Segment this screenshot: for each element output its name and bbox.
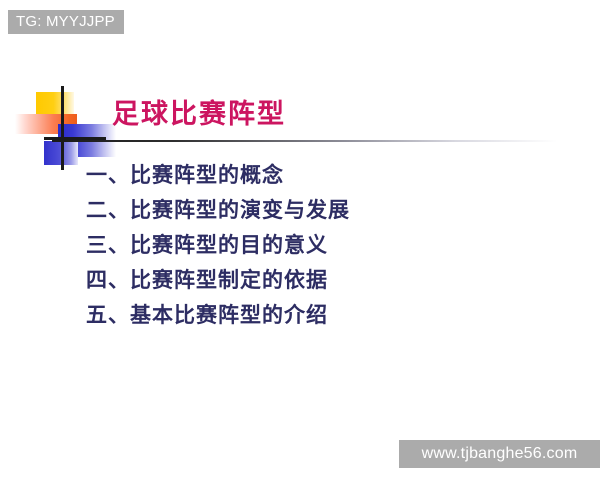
list-item: 四、比赛阵型制定的依据 — [86, 263, 556, 298]
list-item: 三、比赛阵型的目的意义 — [86, 228, 556, 263]
agenda-list: 一、比赛阵型的概念 二、比赛阵型的演变与发展 三、比赛阵型的目的意义 四、比赛阵… — [86, 158, 556, 333]
presentation-slide: TG: MYYJJPP 足球比赛阵型 一、比赛阵型的概念 二、比赛阵型的演变与发… — [0, 0, 600, 480]
list-item: 五、基本比赛阵型的介绍 — [86, 298, 556, 333]
list-item: 二、比赛阵型的演变与发展 — [86, 193, 556, 228]
slide-title: 足球比赛阵型 — [112, 98, 286, 132]
tg-overlay-badge: TG: MYYJJPP — [8, 10, 124, 34]
vertical-rule-shape — [61, 86, 64, 170]
title-underline-rule — [52, 140, 557, 142]
list-item: 一、比赛阵型的概念 — [86, 158, 556, 193]
site-watermark: www.tjbanghe56.com — [399, 440, 600, 468]
